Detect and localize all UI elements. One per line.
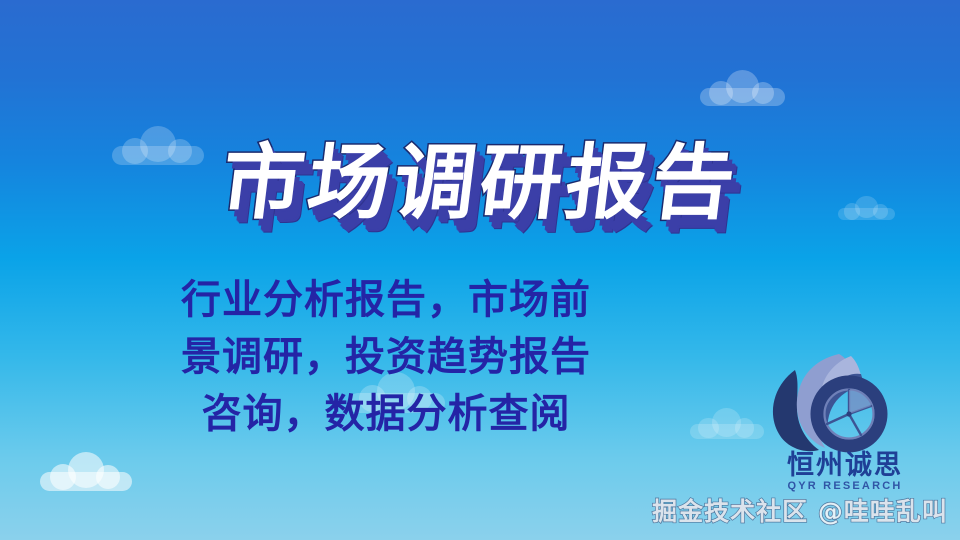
body-line-1: 行业分析报告，市场前 xyxy=(96,272,676,329)
title-block: 市场调研报告 xyxy=(0,88,960,280)
watermark-text: 掘金技术社区 @哇哇乱叫 xyxy=(640,492,960,528)
body-copy: 行业分析报告，市场前 景调研，投资趋势报告 咨询，数据分析查阅 xyxy=(96,272,676,442)
logo-subtext: QYR RESEARCH xyxy=(745,480,945,492)
market-research-report-poster: 市场调研报告 行业分析报告，市场前 景调研，投资趋势报告 咨询，数据分析查阅 xyxy=(0,0,960,540)
body-line-3: 咨询，数据分析查阅 xyxy=(96,386,676,443)
brand-logo: 恒州诚思 QYR RESEARCH xyxy=(745,352,945,492)
cloud-bottom-left-icon xyxy=(40,452,132,492)
logo-wordmark: 恒州诚思 xyxy=(745,452,945,479)
page-title: 市场调研报告 xyxy=(217,143,743,225)
leaf-pie-chart-logo-icon xyxy=(765,352,895,458)
body-line-2: 景调研，投资趋势报告 xyxy=(96,329,676,386)
